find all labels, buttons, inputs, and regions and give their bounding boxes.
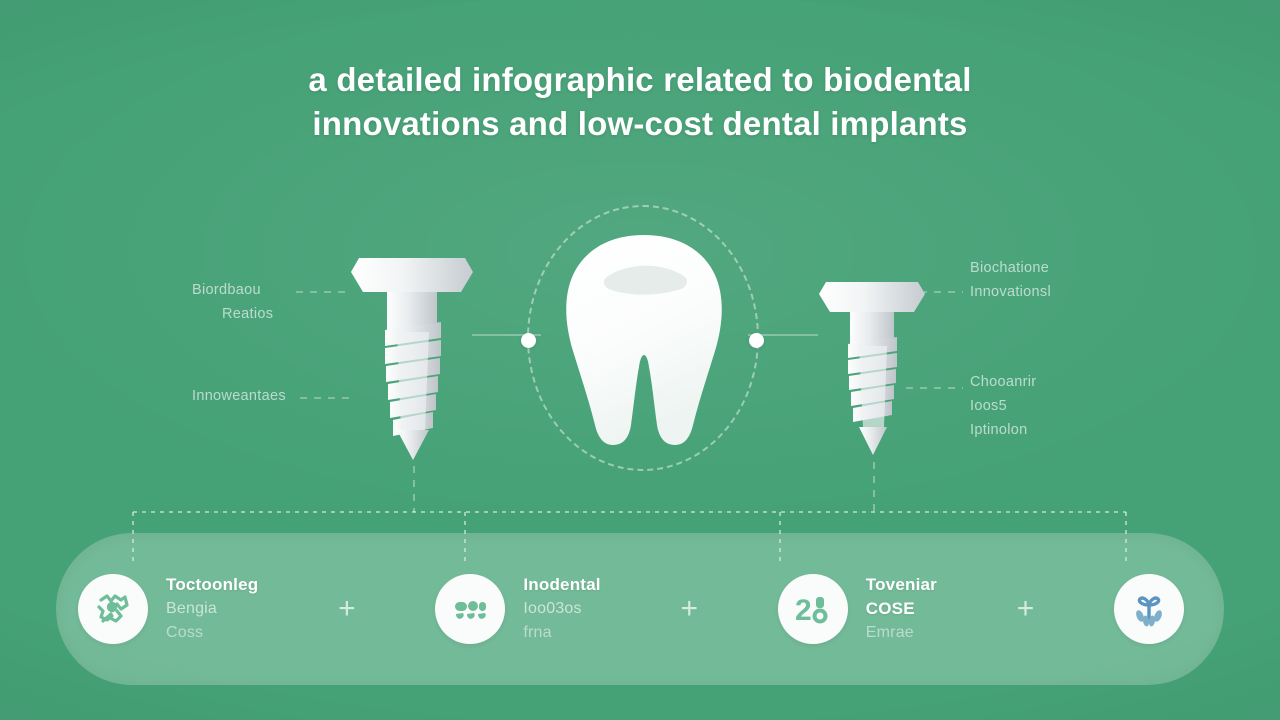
feature-item-1-sub2: Coss (166, 621, 258, 645)
sprout-plant-icon (1114, 574, 1184, 644)
separator-plus-3: + (937, 594, 1114, 624)
implant-person-icon (78, 574, 148, 644)
teeth-row-icon (435, 574, 505, 644)
tooth-illustration-group (527, 205, 762, 475)
feature-item-1-title: Toctoonleg (166, 573, 258, 597)
title-line-1: a detailed infographic related to bioden… (0, 58, 1280, 102)
callout-right-top-line-1: Biochatione (970, 256, 1051, 280)
number-two-icon: 2 (778, 574, 848, 644)
feature-item-1[interactable]: Toctoonleg Bengia Coss (78, 573, 258, 645)
callout-left-bottom: Innoweantaes (192, 384, 286, 408)
feature-item-3-text: Toveniar COSE Emrae (866, 573, 937, 645)
connector-node-right (749, 333, 764, 348)
implant-screw-left (345, 252, 479, 471)
feature-item-4[interactable] (1114, 574, 1202, 644)
page-title: a detailed infographic related to bioden… (0, 58, 1280, 146)
feature-item-3-sub1: COSE (866, 597, 937, 621)
implant-screw-right (814, 277, 930, 468)
callout-right-bottom-line-3: Iptinolon (970, 418, 1036, 442)
feature-item-2[interactable]: Inodental Ioo03os frna (435, 573, 600, 645)
feature-item-3-sub2: Emrae (866, 621, 937, 645)
separator-plus-1: + (258, 594, 435, 624)
svg-text:2: 2 (795, 594, 812, 627)
feature-item-2-sub1: Ioo03os (523, 597, 600, 621)
feature-item-3[interactable]: 2 Toveniar COSE Emrae (778, 573, 937, 645)
callout-left-bottom-line-1: Innoweantaes (192, 384, 286, 408)
callout-right-top-line-2: Innovationsl (970, 280, 1051, 304)
callout-right-bottom-line-2: Ioos5 (970, 394, 1036, 418)
tooth-icon (563, 233, 725, 448)
feature-item-2-text: Inodental Ioo03os frna (523, 573, 600, 645)
separator-plus-2: + (601, 594, 778, 624)
callout-right-bottom-line-1: Chooanrir (970, 370, 1036, 394)
callout-right-top: Biochatione Innovationsl (970, 256, 1051, 304)
feature-item-1-sub1: Bengia (166, 597, 258, 621)
feature-bar: Toctoonleg Bengia Coss + (56, 533, 1224, 685)
feature-item-2-title: Inodental (523, 573, 600, 597)
feature-item-2-sub2: frna (523, 621, 600, 645)
feature-item-1-text: Toctoonleg Bengia Coss (166, 573, 258, 645)
feature-item-3-title: Toveniar (866, 573, 937, 597)
title-line-2: innovations and low-cost dental implants (0, 102, 1280, 146)
callout-right-bottom: Chooanrir Ioos5 Iptinolon (970, 370, 1036, 442)
infographic-canvas: a detailed infographic related to bioden… (0, 0, 1280, 720)
callout-left-top-line-2: Reatios (192, 302, 273, 326)
callout-left-top-line-1: Biordbaou (192, 278, 273, 302)
connector-node-left (521, 333, 536, 348)
callout-left-top: Biordbaou Reatios (192, 278, 273, 326)
